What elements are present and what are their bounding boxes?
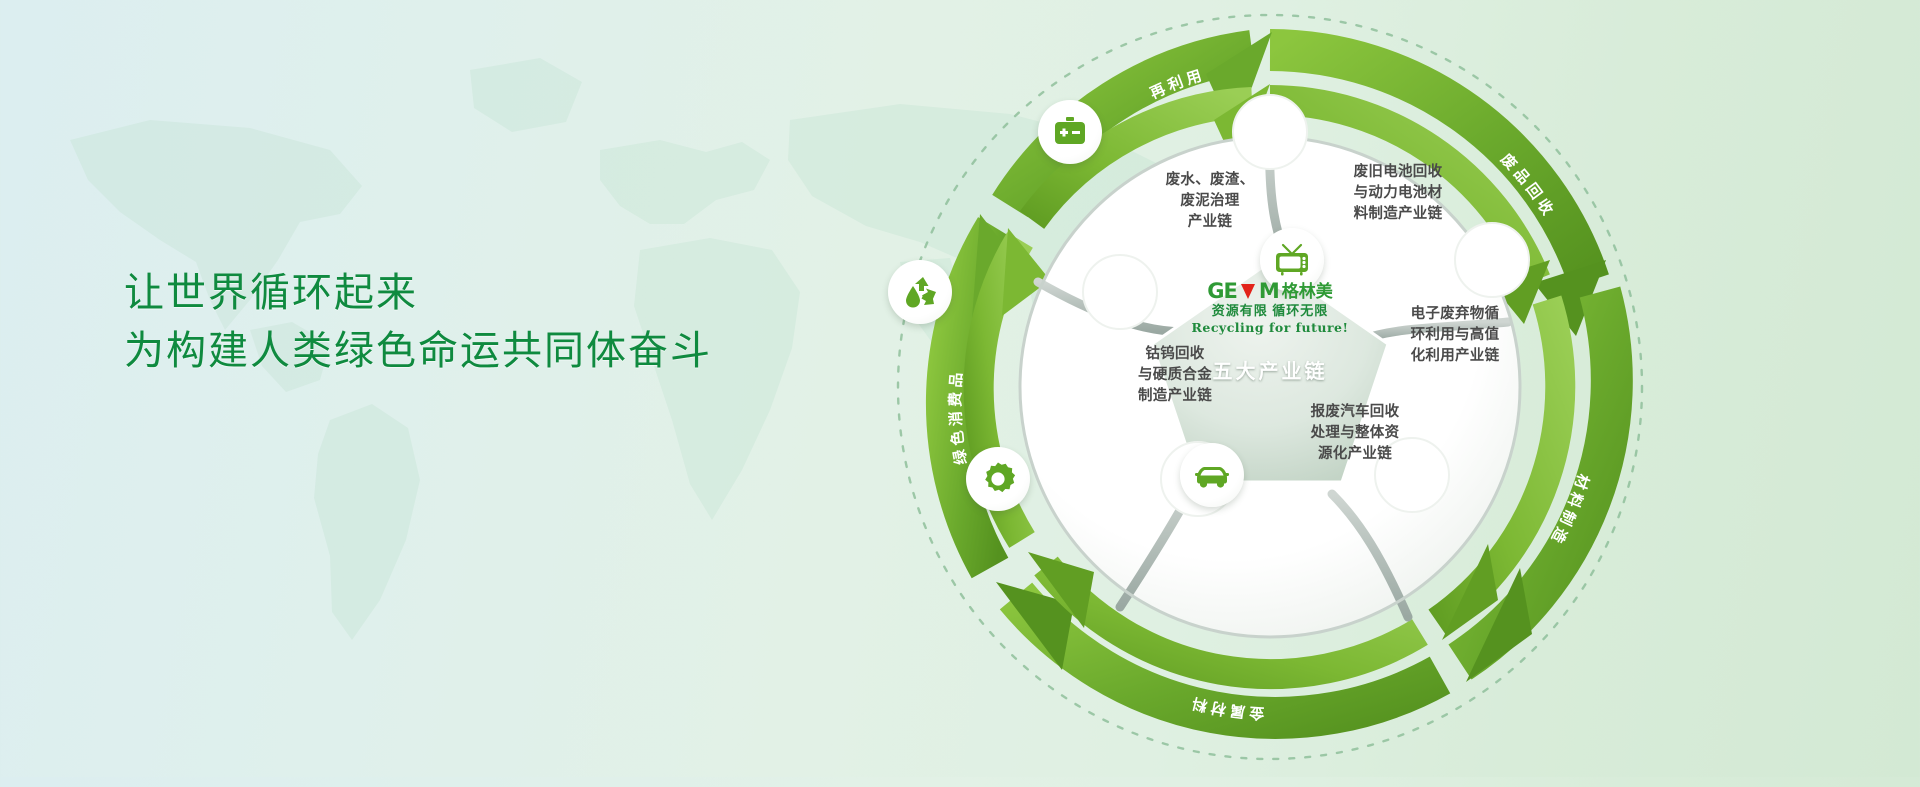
- gear-icon: [966, 447, 1030, 511]
- center-title: 五大产业链: [1180, 355, 1360, 384]
- center-brand-block: GE M 格林美 资源有限 循环无限 Recycling for future!…: [1180, 280, 1360, 384]
- battery-icon: [1038, 100, 1102, 164]
- brand-latin: GE: [1207, 281, 1237, 302]
- segment-label-vehicle: 报废汽车回收 处理与整体资 源化产业链: [1280, 402, 1430, 465]
- brand-latin-tail: M: [1259, 281, 1279, 302]
- brand-logo-row: GE M 格林美: [1180, 280, 1360, 302]
- brand-triangle-icon: [1241, 284, 1255, 299]
- page-headline: 让世界循环起来 为构建人类绿色命运共同体奋斗: [124, 264, 712, 380]
- recycle-water-icon: [888, 260, 952, 324]
- five-industry-chains-diagram: 废品回收 材料制造 金属材料 绿色消费品 再利用: [820, 0, 1720, 782]
- segment-label-water: 废水、废渣、 废泥治理 产业链: [1130, 170, 1290, 233]
- car-icon: [1180, 443, 1244, 507]
- headline-line-1: 让世界循环起来: [124, 264, 712, 322]
- brand-english-slogan: Recycling for future!: [1180, 320, 1360, 335]
- segment-label-battery: 废旧电池回收 与动力电池材 料制造产业链: [1318, 162, 1478, 225]
- headline-line-2: 为构建人类绿色命运共同体奋斗: [124, 322, 712, 380]
- brand-slogan: 资源有限 循环无限: [1180, 303, 1360, 319]
- diagram-graphics: 废品回收 材料制造 金属材料 绿色消费品 再利用: [820, 0, 1720, 782]
- brand-chinese: 格林美: [1282, 281, 1333, 302]
- segment-label-ewaste: 电子废弃物循 环利用与高值 化利用产业链: [1380, 304, 1530, 367]
